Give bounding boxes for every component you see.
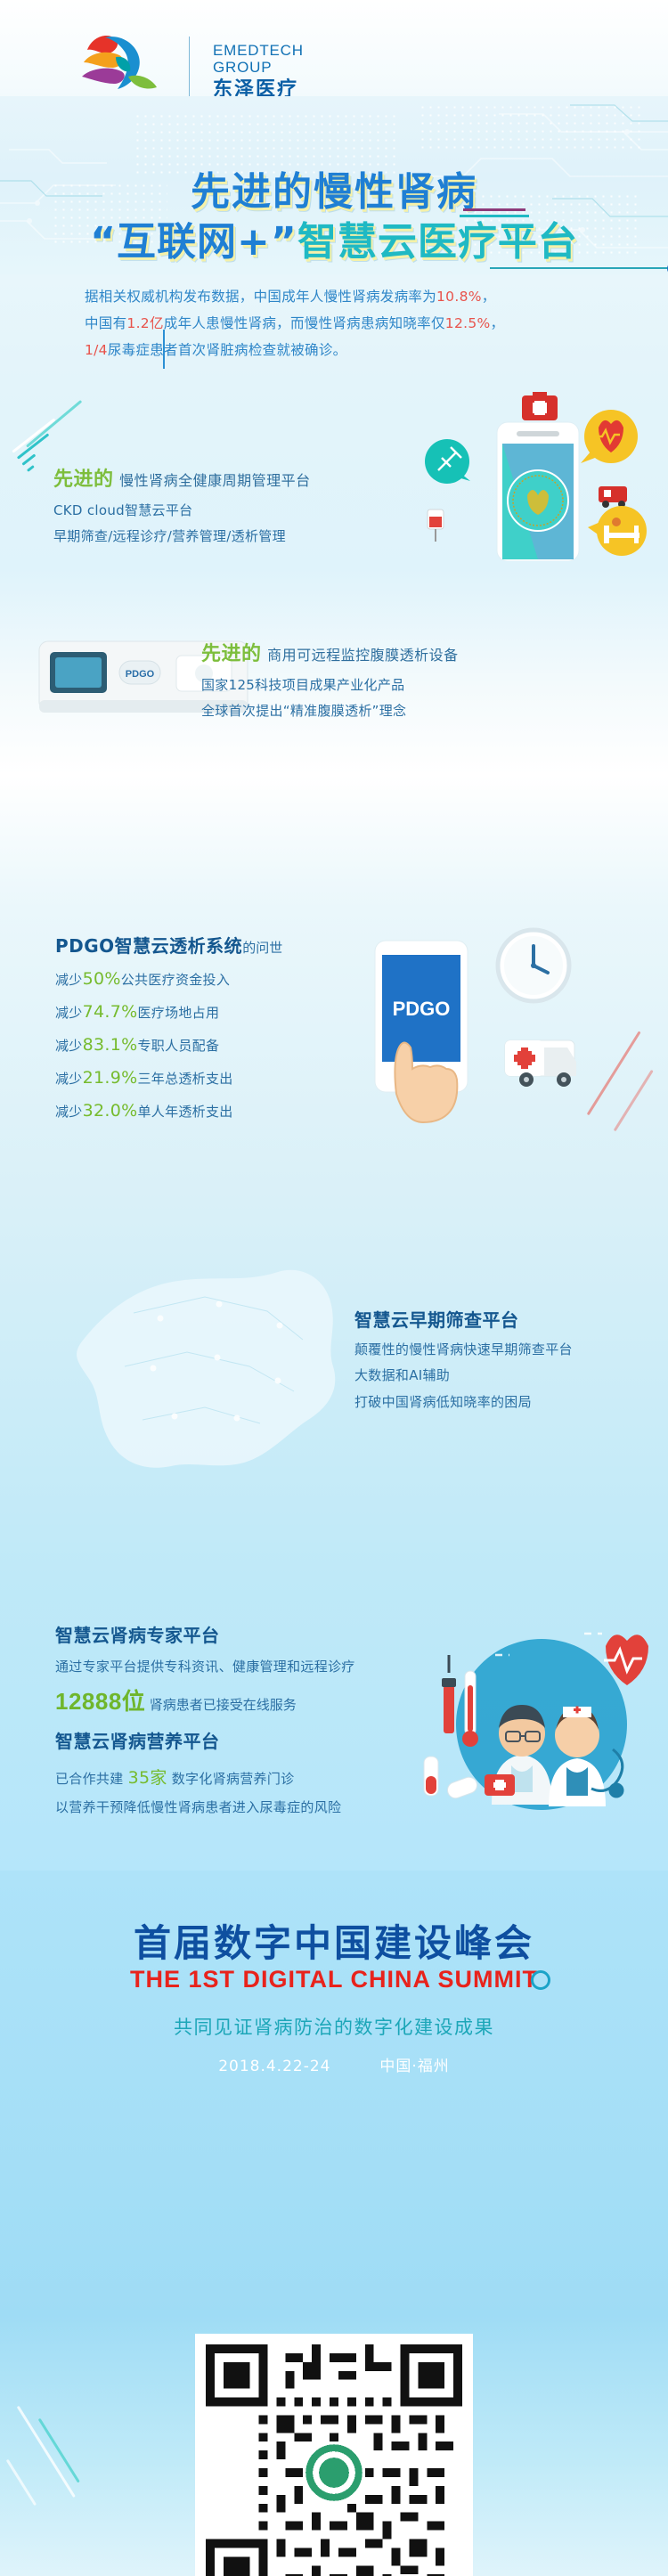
section-ckd-cloud: 先进的 慢性肾病全健康周期管理平台 CKD cloud智慧云平台 早期筛查/远程…	[0, 381, 668, 570]
section6-line2: 以营养干预降低慢性肾病患者进入尿毒症的风险	[55, 1795, 341, 1821]
summit-title-en: THE 1ST DIGITAL CHINA SUMMIT	[0, 1966, 668, 1993]
title-band: 先进的慢性肾病 “互联网+”智慧云医疗平台	[0, 96, 668, 274]
stats-line-2: 中国有1.2亿成年人患慢性肾病，而慢性肾病患病知晓率仅12.5%，	[85, 310, 592, 337]
section6-line1-prefix: 已合作共建	[55, 1771, 124, 1787]
heart-pulse-bubble-icon	[581, 410, 638, 463]
clock-icon	[498, 930, 569, 1001]
section2-badge: 先进的	[201, 643, 262, 665]
pdgo-stat-prefix: 减少	[55, 1104, 83, 1120]
summit-ring-decoration-icon	[531, 1970, 550, 1990]
stats-line2-mid: 成年人患慢性肾病，而慢性肾病患病知晓率仅	[164, 315, 445, 331]
section-nutrition-platform: 智慧云肾病营养平台 已合作共建 35家 数字化肾病营养门诊 以营养干预降低慢性肾…	[0, 1715, 668, 1871]
section6-text-block: 智慧云肾病营养平台 已合作共建 35家 数字化肾病营养门诊 以营养干预降低慢性肾…	[55, 1727, 341, 1821]
ambulance-icon	[599, 486, 627, 508]
summit-location: 中国·福州	[379, 2058, 449, 2075]
page-title-line2: “互联网+”智慧云医疗平台	[0, 223, 668, 262]
section1-text-block: 先进的 慢性肾病全健康周期管理平台 CKD cloud智慧云平台 早期筛查/远程…	[53, 465, 311, 550]
section1-title: 慢性肾病全健康周期管理平台	[119, 472, 311, 489]
pdgo-stat-suffix: 医疗场地占用	[137, 1005, 219, 1021]
phone-brand-label: PDGO	[393, 998, 451, 1020]
section5-line1: 通过专家平台提供专科资讯、健康管理和远程诊疗	[55, 1654, 355, 1680]
pdgo-stat-prefix: 减少	[55, 1071, 83, 1087]
title-underline-cyan	[460, 215, 529, 217]
section4-heading: 智慧云早期筛查平台	[354, 1306, 573, 1332]
pdgo-stat-row-2: 减少74.7%医疗场地占用	[55, 996, 282, 1029]
section3-text-block: PDGO智慧云透析系统的问世 减少50%公共医疗资金投入 减少74.7%医疗场地…	[55, 932, 282, 1128]
stats-line2-number1: 1.2亿	[126, 315, 163, 331]
device-brand-label: PDGO	[126, 669, 155, 680]
section6-line1-suffix: 数字化肾病营养门诊	[172, 1771, 295, 1787]
pdgo-stat-suffix: 单人年透析支出	[137, 1104, 232, 1120]
summit-title-cn: 首届数字中国建设峰会	[0, 1913, 668, 1968]
stats-line3-text: 尿毒症患者首次肾脏病检查就被确诊。	[108, 342, 347, 358]
logo-glyph-icon	[69, 27, 166, 103]
phone-speaker-icon	[517, 431, 559, 436]
stats-line1-tail: ，	[482, 289, 496, 305]
section4-line2: 大数据和AI辅助	[354, 1363, 573, 1389]
pdgo-stat-value: 50%	[83, 969, 121, 989]
brand-text: EMEDTECH GROUP 东泽医疗	[213, 42, 304, 101]
pdgo-stat-suffix: 三年总透析支出	[137, 1071, 232, 1087]
pdgo-stat-suffix: 专职人员配备	[137, 1038, 219, 1054]
section2-line3: 全球首次提出“精准腹膜透析”理念	[201, 698, 459, 724]
section5-text-block: 智慧云肾病专家平台 通过专家平台提供专科资讯、健康管理和远程诊疗 12888位 …	[55, 1621, 355, 1716]
pdgo-stat-value: 83.1%	[83, 1035, 138, 1055]
pdgo-stat-value: 32.0%	[83, 1101, 138, 1121]
section1-line2: CKD cloud智慧云平台	[53, 498, 311, 524]
syringe-bubble-icon	[425, 439, 470, 484]
stats-rule-left	[163, 330, 165, 369]
page-title-line2-rest: 智慧云医疗平台	[297, 219, 578, 265]
stats-line3-number: 1/4	[85, 342, 108, 358]
brand-en-line2: GROUP	[213, 59, 304, 76]
summit-slogan: 共同见证肾病防治的数字化建设成果	[0, 2013, 668, 2040]
page-title-line2-quote: “互联网+”	[90, 219, 297, 265]
stats-line1-text: 据相关权威机构发布数据，中国成年人慢性肾病发病率为	[85, 289, 436, 305]
blood-bag-icon	[428, 509, 444, 542]
stats-connector-line	[490, 267, 668, 269]
pdgo-stat-value: 21.9%	[83, 1068, 138, 1088]
pdgo-stat-row-3: 减少83.1%专职人员配备	[55, 1029, 282, 1062]
pdgo-stat-row-5: 减少32.0%单人年透析支出	[55, 1095, 282, 1128]
qr-code[interactable]	[206, 2344, 462, 2576]
section5-stat-suffix: 肾病患者已接受在线服务	[150, 1698, 297, 1713]
brand-en-line1: EMEDTECH	[213, 42, 304, 59]
ambulance-icon	[505, 1040, 576, 1087]
qr-code-container	[195, 2334, 473, 2576]
section1-line3: 早期筛查/远程诊疗/营养管理/透析管理	[53, 524, 311, 550]
section3-heading: PDGO智慧云透析系统	[55, 935, 242, 957]
summit-date: 2018.4.22-24	[218, 2058, 330, 2075]
dot-grid-decoration	[419, 103, 641, 150]
stats-line2-text: 中国有	[85, 315, 126, 331]
section2-text-block: 先进的 商用可远程监控腹膜透析设备 国家125科技项目成果产业化产品 全球首次提…	[201, 640, 459, 725]
section6-line1-number: 35家	[128, 1768, 167, 1788]
summit-meta-row: 2018.4.22-24 中国·福州	[0, 2053, 668, 2075]
section6-line1: 已合作共建 35家 数字化肾病营养门诊	[55, 1762, 341, 1795]
section3-heading-row: PDGO智慧云透析系统的问世	[55, 932, 282, 958]
china-map-illustration	[27, 1233, 383, 1527]
pdgo-phone-illustration: PDGO	[343, 916, 637, 1147]
dot-grid-decoration	[134, 112, 401, 178]
first-aid-kit-icon	[522, 392, 558, 420]
ckd-phone-illustration	[392, 392, 659, 561]
infographic-page: 数字中国建设成果 EMEDTECH GROUP 东泽医疗	[0, 0, 668, 2576]
hospital-bed-bubble-icon	[588, 506, 647, 556]
stats-line-1: 据相关权威机构发布数据，中国成年人慢性肾病发病率为10.8%，	[85, 283, 592, 310]
section-pdgo-stats: PDGO智慧云透析系统的问世 减少50%公共医疗资金投入 减少74.7%医疗场地…	[0, 909, 668, 1202]
section1-badge: 先进的	[53, 469, 114, 491]
section5-stat-value: 12888位	[55, 1688, 145, 1715]
section4-text-block: 智慧云早期筛查平台 颠覆性的慢性肾病快速早期筛查平台 大数据和AI辅助 打破中国…	[354, 1306, 573, 1415]
section-pd-device: PDGO 先进的 商用可远程监控腹膜透析设备 国家125科技项目成果产业化产品 …	[0, 570, 668, 775]
pdgo-stat-suffix: 公共医疗资金投入	[121, 972, 230, 988]
pdgo-stat-value: 74.7%	[83, 1002, 138, 1022]
pdgo-stat-row-1: 减少50%公共医疗资金投入	[55, 963, 282, 996]
section-spacer-white	[0, 775, 668, 909]
section6-heading: 智慧云肾病营养平台	[55, 1727, 341, 1753]
section1-title-row: 先进的 慢性肾病全健康周期管理平台	[53, 465, 311, 494]
section3-heading-tail: 的问世	[242, 941, 282, 956]
pdgo-stat-row-4: 减少21.9%三年总透析支出	[55, 1062, 282, 1095]
section2-line2: 国家125科技项目成果产业化产品	[201, 673, 459, 698]
stats-line1-number: 10.8%	[436, 289, 482, 305]
section2-title: 商用可远程监控腹膜透析设备	[267, 647, 459, 664]
pdgo-stat-prefix: 减少	[55, 1005, 83, 1021]
section2-title-row: 先进的 商用可远程监控腹膜透析设备	[201, 640, 459, 669]
stats-line2-number2: 12.5%	[445, 315, 491, 331]
section4-line1: 颠覆性的慢性肾病快速早期筛查平台	[354, 1337, 573, 1363]
page-title-line1: 先进的慢性肾病	[0, 173, 668, 212]
stats-line-3: 1/4尿毒症患者首次肾脏病检查就被确诊。	[85, 337, 592, 363]
stats-line2-tail: ，	[491, 315, 505, 331]
section4-line3: 打破中国肾病低知晓率的困局	[354, 1390, 573, 1415]
pdgo-stat-prefix: 减少	[55, 972, 83, 988]
pdgo-stat-prefix: 减少	[55, 1038, 83, 1054]
section5-heading: 智慧云肾病专家平台	[55, 1621, 355, 1647]
title-underline-purple	[463, 208, 525, 211]
section-screening-platform: 智慧云早期筛查平台 颠覆性的慢性肾病快速早期筛查平台 大数据和AI辅助 打破中国…	[0, 1202, 668, 1577]
stats-paragraph-block: 据相关权威机构发布数据，中国成年人慢性肾病发病率为10.8%， 中国有1.2亿成…	[0, 274, 668, 381]
section5-stat-row: 12888位 肾病患者已接受在线服务	[55, 1683, 355, 1716]
